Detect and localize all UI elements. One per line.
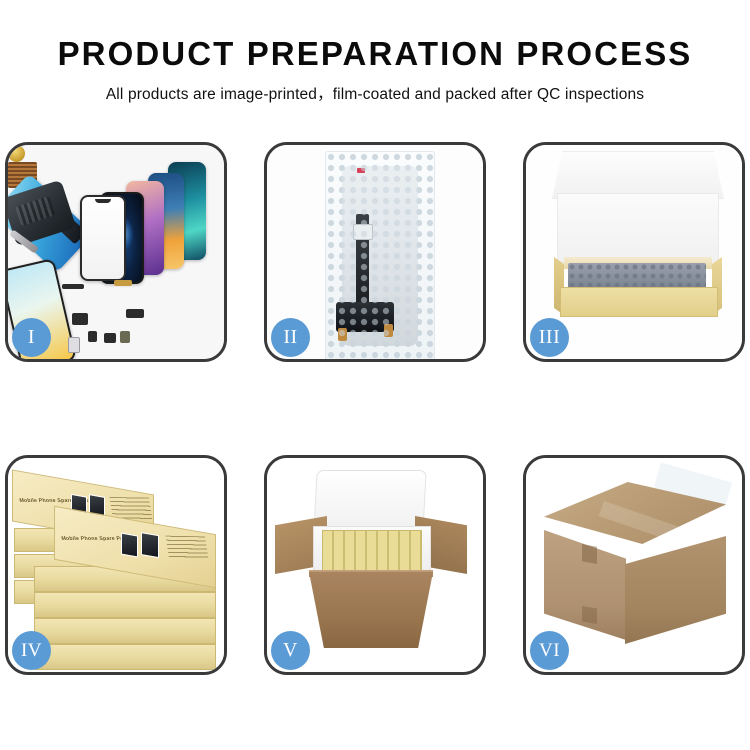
step-panel-2[interactable]: II bbox=[264, 142, 486, 362]
step-badge-5: V bbox=[271, 631, 310, 670]
flex-cable-part-b bbox=[126, 309, 144, 318]
earpiece-mesh-part bbox=[62, 284, 84, 289]
box-lid-textlines-b bbox=[166, 536, 209, 559]
box-lid-swatch-b2 bbox=[141, 532, 159, 558]
carton-flap-tab-lower bbox=[582, 606, 597, 624]
gold-connector-left bbox=[338, 328, 347, 341]
gold-connector-right bbox=[384, 324, 393, 337]
small-chip-part bbox=[88, 331, 97, 342]
phone-glass-panel bbox=[80, 195, 126, 281]
white-foam-sheet bbox=[557, 193, 719, 267]
box-lid-swatch-b1 bbox=[121, 533, 138, 558]
step-panel-6[interactable]: VI bbox=[523, 455, 745, 675]
speaker-part bbox=[120, 331, 130, 343]
packed-yellow-boxes bbox=[322, 530, 422, 572]
box-lid-open bbox=[552, 151, 724, 199]
driver-ic-chip bbox=[353, 224, 373, 240]
step-panel-5[interactable]: V bbox=[264, 455, 486, 675]
product-preparation-infographic: PRODUCT PREPARATION PROCESS All products… bbox=[0, 0, 750, 750]
step-badge-2: II bbox=[271, 318, 310, 357]
camera-module-part bbox=[104, 333, 116, 343]
red-qc-sticker bbox=[357, 168, 365, 173]
bubble-wrap-bag bbox=[325, 151, 435, 359]
step-badge-1: I bbox=[12, 318, 51, 357]
step-panel-1[interactable]: I bbox=[5, 142, 227, 362]
stacked-box-r4 bbox=[34, 644, 216, 670]
carton-right-face bbox=[625, 536, 726, 644]
carton-flap-tab-upper bbox=[582, 544, 597, 564]
header: PRODUCT PREPARATION PROCESS All products… bbox=[0, 0, 750, 104]
step-badge-6: VI bbox=[530, 631, 569, 670]
step-badge-3: III bbox=[530, 318, 569, 357]
vibration-motor-part bbox=[8, 145, 25, 162]
carton-body bbox=[309, 572, 433, 648]
step-panel-3[interactable]: III bbox=[523, 142, 745, 362]
step-panel-4[interactable]: Mobile Phone Spare Parts Mobile Phone Sp… bbox=[5, 455, 227, 675]
stacked-box-r3 bbox=[34, 618, 216, 644]
flex-cable-part-a bbox=[72, 313, 88, 325]
page-title: PRODUCT PREPARATION PROCESS bbox=[0, 0, 750, 72]
styrofoam-lid bbox=[313, 470, 426, 534]
sim-tray-part bbox=[68, 337, 80, 353]
stacked-box-r2 bbox=[34, 592, 216, 618]
gold-flex-part bbox=[114, 280, 132, 286]
page-subtitle: All products are image-printed，film-coat… bbox=[0, 72, 750, 104]
box-front-panel bbox=[560, 287, 718, 317]
step-badge-4: IV bbox=[12, 631, 51, 670]
steps-grid: I II bbox=[5, 142, 745, 675]
